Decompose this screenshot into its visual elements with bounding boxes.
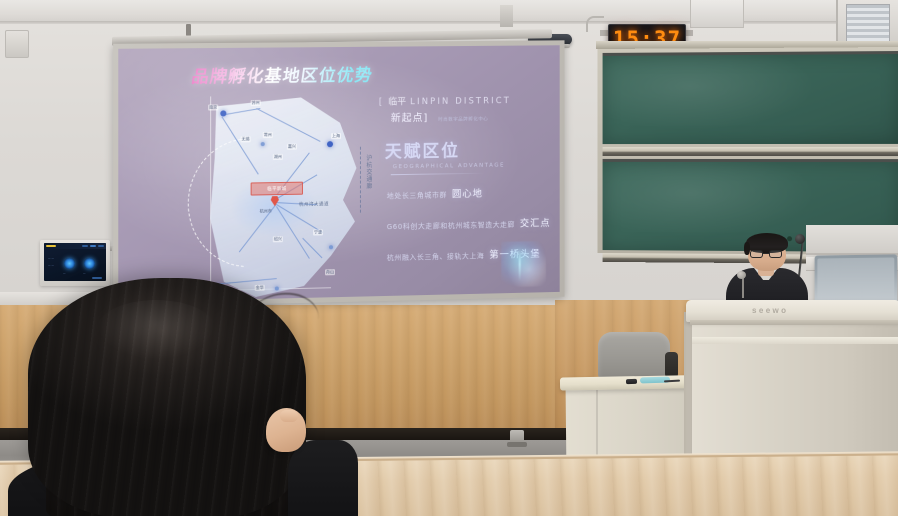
map-node-shanghai — [327, 141, 333, 147]
map-label-jinhua: 金华 — [255, 285, 265, 291]
slide-headline-en: GEOGRAPHICAL ADVANTAGE — [393, 162, 560, 171]
bullet-text: 地处长三角城市群 — [387, 190, 447, 201]
projection-screen: 品牌孵化基地区位优势 — [118, 45, 559, 302]
projection-screen-frame: 品牌孵化基地区位优势 — [113, 40, 564, 307]
brand-cn-main: 新起点] — [391, 109, 429, 124]
lectern-trim-band — [692, 337, 898, 344]
smart-lectern-body — [692, 310, 898, 472]
panel-fan-a-label: — — [63, 272, 66, 275]
bullet-text: 杭州融入长三角、接轨大上海 — [387, 251, 485, 263]
slide-title: 品牌孵化基地区位优势 — [190, 61, 375, 88]
map-label-ningbo: 宁波 — [313, 229, 323, 235]
chair-armrest — [665, 352, 678, 378]
panel-ok-button[interactable] — [92, 277, 102, 280]
green-chalkboard — [598, 47, 898, 255]
panel-chip-1[interactable] — [82, 245, 88, 248]
map-label-hangzhou: 杭州市 — [259, 208, 273, 214]
map-node-wuxi — [261, 142, 265, 146]
desk-microphone-stem — [742, 276, 744, 298]
slide-headline-rule — [391, 173, 486, 176]
air-conditioner-unit — [690, 0, 744, 28]
chalk-tray-upper — [603, 147, 898, 156]
student-sleeve — [288, 440, 358, 516]
panel-fan-b-label: — — [83, 272, 86, 275]
panel-chip-2[interactable] — [90, 245, 96, 248]
microphone-icon — [795, 234, 805, 244]
bullet-emphasis: 圆心地 — [452, 186, 483, 200]
chalkboard-magnet-icon — [787, 236, 792, 241]
room-control-panel[interactable]: — — — — — — — [44, 243, 106, 281]
map-vertical-route-label: 沪杭交通廊 — [364, 155, 373, 190]
map-node-nanjing — [220, 110, 226, 116]
desk-microphone-icon — [737, 271, 746, 279]
map-label-wuxi: 无锡 — [241, 136, 251, 142]
panel-logo-icon — [46, 245, 56, 248]
glasses-lens-left — [750, 250, 763, 258]
chalkboard-panel-upper — [603, 51, 898, 144]
map-horizontal-route-label: 杭州湾大通道 — [299, 201, 329, 208]
slide-bullet-item: G60科创大走廊和杭州城东智造大走廊 交汇点 — [387, 215, 560, 232]
panel-fan-b-icon[interactable] — [84, 258, 95, 269]
map-highlight-linping: 临平新城 — [251, 182, 303, 196]
slide-headline: 天赋区位 — [385, 135, 560, 162]
vent-louvers-icon — [846, 4, 890, 44]
presenter-glasses-icon — [750, 250, 784, 258]
lectern-lip — [690, 320, 898, 325]
cabinet-cap — [806, 225, 898, 255]
monitor-screen — [817, 257, 894, 301]
panel-label-a: — — — [48, 257, 54, 260]
map-corridor-dashline — [360, 147, 361, 213]
slide-bullet-item: 地处长三角城市群 圆心地 — [387, 184, 560, 201]
map-label-shanghai: 上海 — [331, 133, 341, 139]
lectern-top-surface — [686, 300, 898, 322]
panel-label-b: — — — [48, 264, 54, 267]
map-label-nanjing: 南京 — [208, 104, 218, 110]
map-label-shaoxing: 绍兴 — [273, 236, 283, 242]
floor-equipment-stand — [510, 430, 524, 446]
slide-decorative-sparkle-icon — [501, 241, 546, 287]
ceiling-sensor-box — [500, 5, 513, 27]
glasses-lens-right — [769, 250, 782, 258]
map-label-suzhou: 苏州 — [251, 100, 261, 106]
brand-bracket-open: [ — [379, 98, 384, 108]
panel-fan-a-icon[interactable] — [64, 258, 75, 269]
slide-brand-line-1: [ 临平 LINPIN DISTRICT — [379, 93, 560, 108]
bullet-text: G60科创大走廊和杭州城东智造大走廊 — [387, 220, 515, 232]
student-fingers — [280, 410, 298, 422]
gray-office-chair — [598, 332, 670, 380]
control-panel-topbar — [44, 243, 106, 249]
slide-map: 南京 苏州 上海 无锡 常州 嘉兴 湖州 绍兴 宁波 舟山 金华 杭州市 临平新… — [198, 97, 371, 301]
student-hair-highlight — [96, 300, 216, 360]
map-label-huzhou: 湖州 — [273, 154, 283, 160]
lectern-brand-logo: seewo — [752, 306, 788, 315]
brand-subtitle: 时尚数字品牌孵化中心 — [438, 116, 488, 123]
wall-access-plate — [5, 30, 29, 58]
remote-control-item — [626, 379, 637, 384]
map-label-zhoushan: 舟山 — [325, 269, 335, 275]
bullet-emphasis: 交汇点 — [520, 215, 551, 229]
panel-chip-3[interactable] — [98, 245, 104, 248]
slide-brand-line-2: 新起点] 时尚数字品牌孵化中心 — [391, 107, 560, 124]
map-label-changzhou: 常州 — [263, 132, 273, 138]
brand-en: LINPIN DISTRICT — [410, 96, 511, 107]
brand-cn-small: 临平 — [388, 94, 406, 107]
classroom-scene: 15:37 — — — — — — — [0, 0, 898, 516]
map-label-jiaxing: 嘉兴 — [287, 144, 297, 150]
screen-hook — [186, 24, 191, 36]
